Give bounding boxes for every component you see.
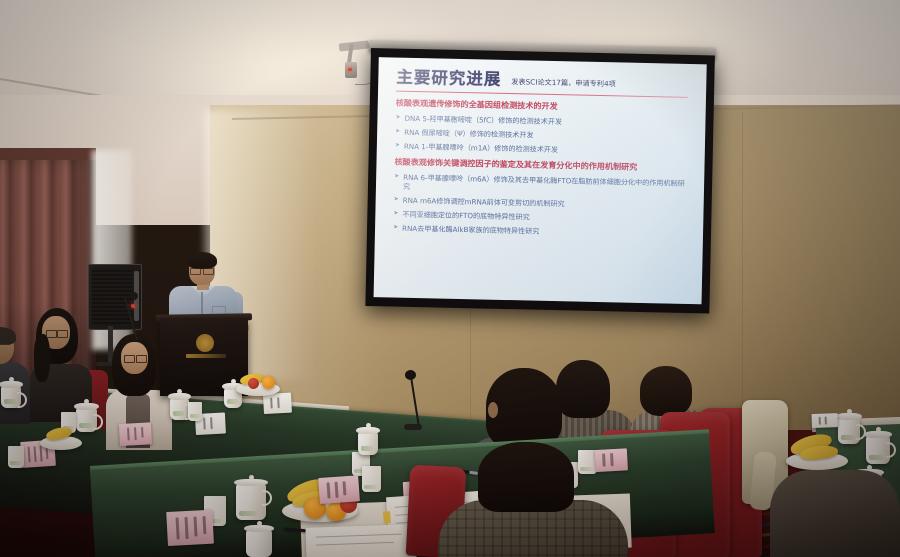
bullet-marker-icon: ➤	[394, 195, 399, 204]
slide-bullet: ➤ RNA 1-甲基腺嘌呤（m1A）修饰的检测技术开发	[395, 141, 691, 157]
bullet-marker-icon: ➤	[393, 209, 398, 218]
projection-screen: 主要研究进展 发表SCI论文17篇，申请专利4项 核酸表观遗传修饰的全基因组检测…	[365, 48, 715, 313]
microphone-led-icon	[131, 304, 135, 308]
teacup	[866, 436, 890, 464]
slide-subtitle: 发表SCI论文17篇，申请专利4项	[511, 77, 616, 91]
name-card	[812, 413, 838, 428]
bullet-text: RNA 6-甲基腺嘌呤（m6A）修饰及其去甲基化酶FTO在脂肪前体细胞分化中的作…	[403, 172, 687, 197]
teacup	[838, 418, 860, 444]
presentation-slide: 主要研究进展 发表SCI论文17篇，申请专利4项 核酸表观遗传修饰的全基因组检测…	[374, 57, 707, 304]
bullet-marker-icon: ➤	[395, 127, 400, 136]
bullet-text: RNA m6A修饰调控mRNA前体可变剪切的机制研究	[403, 196, 565, 209]
slide-section-heading-2: 核酸表观修饰关键调控因子的鉴定及其在发育分化中的作用机制研究	[394, 156, 690, 173]
teacup	[358, 432, 378, 455]
curtain-rail	[0, 148, 96, 160]
bullet-text: RNA去甲基化酶AlkB家族的底物特异性研究	[402, 223, 539, 235]
name-card	[595, 448, 628, 472]
name-card	[263, 393, 292, 414]
bullet-text: RNA 假尿嘧啶（Ψ）修饰的检测技术开发	[404, 127, 534, 139]
eyeglasses-icon	[190, 268, 214, 273]
bullet-marker-icon: ➤	[393, 223, 398, 232]
apple	[248, 378, 259, 389]
bullet-text: DNA 5-羟甲基胞嘧啶（5fC）修饰的检测技术开发	[404, 113, 562, 126]
name-card	[318, 475, 360, 504]
slide-bullet: ➤ 不同亚细胞定位的FTO的底物特异性研究	[393, 209, 689, 225]
podium-emblem-icon	[196, 334, 214, 352]
slide-title-row: 主要研究进展 发表SCI论文17篇，申请专利4项	[396, 70, 692, 93]
teacup	[76, 408, 97, 432]
slide-section-heading-1: 核酸表观遗传修饰的全基因组检测技术的开发	[396, 98, 692, 115]
podium-nameplate	[186, 354, 226, 358]
microphone-icon	[130, 292, 138, 300]
wall-seam	[742, 112, 743, 452]
name-card	[166, 510, 214, 546]
slide-bullet: ➤ RNA去甲基化酶AlkB家族的底物特异性研究	[393, 223, 689, 239]
screen-surface: 主要研究进展 发表SCI论文17篇，申请专利4项 核酸表观遗传修饰的全基因组检测…	[374, 57, 707, 304]
bullet-marker-icon: ➤	[395, 141, 400, 150]
bullet-marker-icon: ➤	[395, 113, 400, 122]
paper-cup	[362, 466, 381, 492]
power-led-icon	[348, 68, 352, 71]
bullet-text: RNA 1-甲基腺嘌呤（m1A）修饰的检测技术开发	[404, 141, 558, 154]
paper-cup	[8, 446, 24, 468]
bullet-marker-icon: ➤	[394, 172, 399, 191]
slide-bullet: ➤ RNA 6-甲基腺嘌呤（m6A）修饰及其去甲基化酶FTO在脂肪前体细胞分化中…	[394, 172, 690, 197]
orange	[262, 376, 275, 389]
bullet-text: 不同亚细胞定位的FTO的底物特异性研究	[402, 210, 530, 222]
microphone-icon	[405, 370, 416, 380]
speaker-grille	[92, 268, 132, 326]
document	[305, 524, 416, 557]
paper-cup	[188, 402, 202, 421]
conference-room-photo: 主要研究进展 发表SCI论文17篇，申请专利4项 核酸表观遗传修饰的全基因组检测…	[0, 0, 900, 557]
teacup	[1, 386, 21, 408]
slide-title: 主要研究进展	[396, 70, 501, 89]
microphone-base	[404, 424, 422, 430]
teacup	[236, 484, 266, 520]
slide-bullet: ➤ DNA 5-羟甲基胞嘧啶（5fC）修饰的检测技术开发	[395, 113, 691, 129]
slide-bullet: ➤ RNA 假尿嘧啶（Ψ）修饰的检测技术开发	[395, 127, 691, 143]
speaker-hair	[187, 252, 217, 269]
teacup	[246, 530, 272, 557]
name-card	[119, 422, 152, 446]
slide-bullet: ➤ RNA m6A修饰调控mRNA前体可变剪切的机制研究	[394, 195, 690, 211]
teacup	[170, 398, 189, 420]
